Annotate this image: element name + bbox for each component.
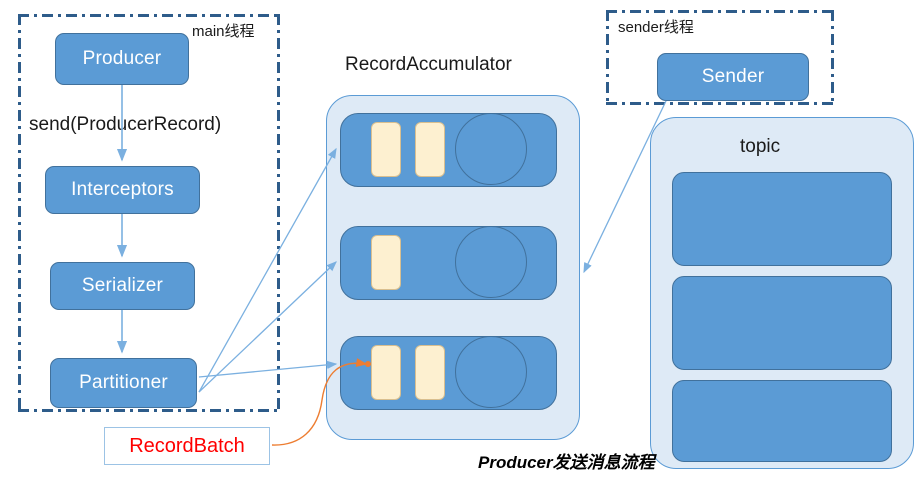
record-batch-cell[interactable]: [371, 122, 401, 177]
diagram-canvas: main线程 Producer send(ProducerRecord) Int…: [0, 0, 920, 481]
serializer-box-label: Serializer: [82, 275, 163, 297]
record-accumulator-title: RecordAccumulator: [345, 55, 512, 74]
partitioner-box-label: Partitioner: [79, 372, 168, 394]
sender-thread-label: sender线程: [618, 20, 694, 35]
interceptors-box[interactable]: Interceptors: [45, 166, 200, 214]
topic-partition-2[interactable]: [672, 276, 892, 370]
record-batch-cell[interactable]: [371, 345, 401, 400]
figure-caption: Producer发送消息流程: [478, 454, 655, 471]
producer-box-label: Producer: [83, 48, 162, 70]
record-batch-cell[interactable]: [415, 122, 445, 177]
deque-row-3-cap: [455, 336, 527, 408]
serializer-box[interactable]: Serializer: [50, 262, 195, 310]
main-thread-label: main线程: [192, 24, 255, 39]
deque-row-1-cap: [455, 113, 527, 185]
record-batch-callout[interactable]: RecordBatch: [104, 427, 270, 465]
deque-row-2-cap: [455, 226, 527, 298]
topic-partition-3[interactable]: [672, 380, 892, 462]
sender-box[interactable]: Sender: [657, 53, 809, 101]
topic-partition-1[interactable]: [672, 172, 892, 266]
sender-box-label: Sender: [702, 66, 764, 88]
partitioner-box[interactable]: Partitioner: [50, 358, 197, 408]
record-batch-cell[interactable]: [371, 235, 401, 290]
producer-box[interactable]: Producer: [55, 33, 189, 85]
send-producer-record-label: send(ProducerRecord): [29, 115, 221, 134]
record-batch-cell[interactable]: [415, 345, 445, 400]
interceptors-box-label: Interceptors: [71, 179, 174, 201]
topic-title: topic: [740, 137, 780, 156]
record-batch-callout-label: RecordBatch: [129, 435, 245, 458]
